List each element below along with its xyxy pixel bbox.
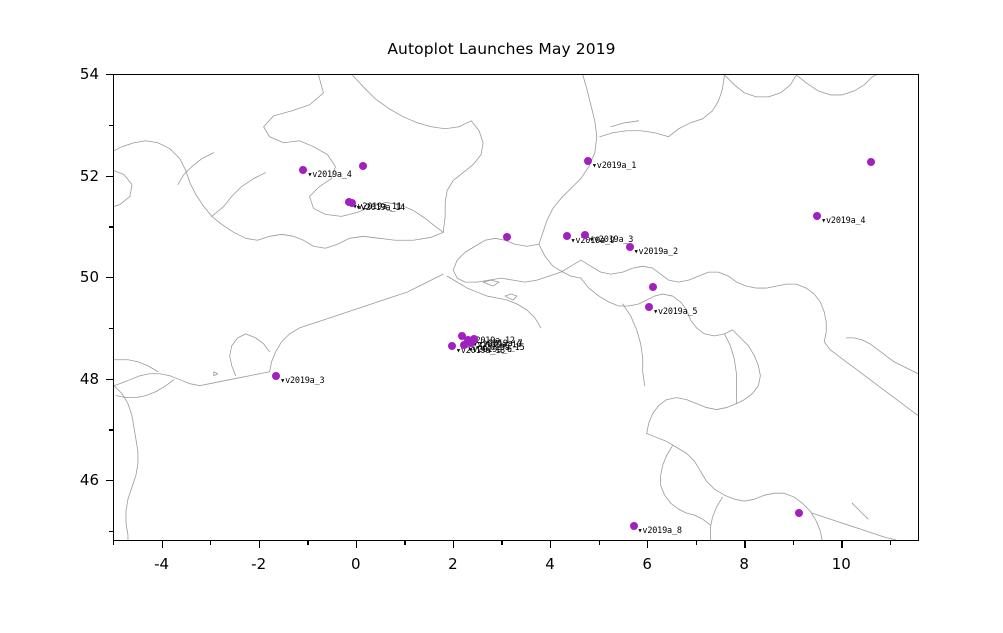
x-tick-major — [162, 541, 163, 548]
x-tick-label: 6 — [642, 555, 652, 573]
x-tick-label: 8 — [739, 555, 749, 573]
x-tick-label: 2 — [448, 555, 458, 573]
data-point-label: ▾v2019a_4 — [307, 171, 351, 180]
x-tick-label: 10 — [832, 555, 851, 573]
y-tick-major — [106, 74, 113, 75]
data-point-marker[interactable] — [867, 158, 875, 166]
x-tick-major — [259, 541, 260, 548]
data-point-label: ▾v2019a_5 — [653, 308, 697, 317]
y-tick-label: 48 — [80, 370, 99, 388]
y-tick-label: 50 — [80, 268, 99, 286]
data-point-marker[interactable] — [460, 341, 468, 349]
data-point-marker[interactable] — [626, 243, 634, 251]
y-tick-label: 54 — [80, 65, 99, 83]
data-point-marker[interactable] — [299, 166, 307, 174]
data-points-layer: ▾v2019a_4▾v2019a_11▾v2019a_14▾v2019a_1▾v… — [114, 75, 918, 540]
y-tick-major — [106, 379, 113, 380]
y-tick-minor — [109, 125, 113, 126]
data-point-marker[interactable] — [272, 372, 280, 380]
data-point-label: ▾v2019a_8 — [638, 527, 682, 536]
y-tick-minor — [109, 226, 113, 227]
data-point-label: ▾v2019a_3 — [280, 377, 324, 386]
data-point-marker[interactable] — [649, 283, 657, 291]
data-point-label: ▾v2019a_7 — [478, 340, 522, 349]
x-tick-minor — [793, 541, 794, 545]
data-point-marker[interactable] — [359, 162, 367, 170]
x-tick-minor — [307, 541, 308, 545]
data-point-marker[interactable] — [503, 233, 511, 241]
page-title: Autoplot Launches May 2019 — [0, 40, 1003, 58]
data-point-marker[interactable] — [581, 231, 589, 239]
data-point-label: ▾v2019a_2 — [634, 248, 678, 257]
y-tick-label: 46 — [80, 471, 99, 489]
y-tick-label: 52 — [80, 167, 99, 185]
data-point-label: ▾v2019a_1 — [592, 162, 636, 171]
x-tick-label: -4 — [154, 555, 169, 573]
x-tick-minor — [113, 541, 114, 545]
map-axes: ▾v2019a_4▾v2019a_11▾v2019a_14▾v2019a_1▾v… — [113, 74, 919, 541]
data-point-label: ▾v2019a_4 — [821, 217, 865, 226]
x-tick-label: 0 — [351, 555, 361, 573]
x-tick-minor — [501, 541, 502, 545]
data-point-marker[interactable] — [448, 342, 456, 350]
data-point-marker[interactable] — [563, 232, 571, 240]
x-tick-major — [356, 541, 357, 548]
y-tick-minor — [109, 429, 113, 430]
y-tick-major — [106, 480, 113, 481]
x-tick-minor — [696, 541, 697, 545]
x-tick-minor — [404, 541, 405, 545]
figure-canvas: Autoplot Launches May 2019 — [0, 0, 1003, 633]
x-tick-major — [647, 541, 648, 548]
y-tick-minor — [109, 328, 113, 329]
y-tick-major — [106, 176, 113, 177]
data-point-marker[interactable] — [813, 212, 821, 220]
x-tick-label: 4 — [545, 555, 555, 573]
y-tick-minor — [109, 531, 113, 532]
data-point-marker[interactable] — [630, 522, 638, 530]
data-point-marker[interactable] — [584, 157, 592, 165]
x-tick-major — [453, 541, 454, 548]
data-point-label: ▾v2019a_14 — [356, 204, 405, 213]
x-tick-minor — [210, 541, 211, 545]
y-tick-major — [106, 277, 113, 278]
x-tick-label: -2 — [251, 555, 266, 573]
x-tick-major — [550, 541, 551, 548]
x-tick-major — [744, 541, 745, 548]
data-point-marker[interactable] — [795, 509, 803, 517]
data-point-marker[interactable] — [645, 303, 653, 311]
x-tick-minor — [599, 541, 600, 545]
x-tick-minor — [890, 541, 891, 545]
x-tick-major — [841, 541, 842, 548]
